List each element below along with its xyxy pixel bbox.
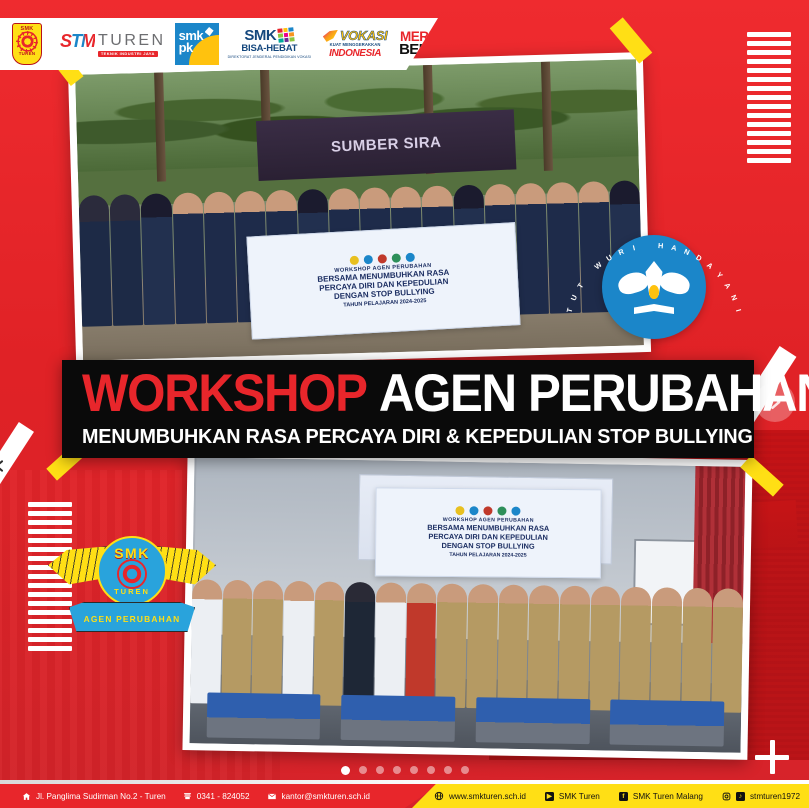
carousel-prev-button[interactable] bbox=[0, 452, 8, 480]
slide-title: WORKSHOP AGEN PERUBAHAN bbox=[82, 367, 688, 420]
badge-ribbon-text: AGEN PERUBAHAN bbox=[69, 602, 195, 632]
footer-contact-group: Jl. Panglima Sudirman No.2 - Turen 0341 … bbox=[0, 784, 440, 808]
badge-smk-text: SMK bbox=[114, 546, 150, 560]
tut-wuri-handayani-logo: TUT WURI HANDAYANI bbox=[602, 235, 706, 339]
carousel-next-button[interactable] bbox=[755, 382, 795, 422]
footer-facebook-text: SMK Turen Malang bbox=[633, 792, 703, 801]
ladder-stripes-top-right bbox=[747, 32, 791, 163]
gear-icon bbox=[119, 561, 145, 587]
belajar-text: BELAJAR bbox=[399, 43, 466, 58]
phone-icon bbox=[183, 792, 192, 801]
carousel-dots[interactable] bbox=[0, 766, 809, 775]
merdeka-belajar-logo: MERDEKA BELAJAR bbox=[399, 30, 466, 58]
footer-website[interactable]: www.smkturen.sch.id bbox=[434, 791, 526, 801]
chevron-right-icon bbox=[765, 392, 785, 412]
smkpk-line-2: pk bbox=[179, 42, 204, 54]
facebook-icon: f bbox=[619, 792, 628, 801]
smk-turen-crest-logo: SMK TUREN bbox=[12, 23, 42, 65]
swoosh-icon bbox=[323, 30, 338, 42]
carousel-dot[interactable] bbox=[341, 766, 350, 775]
turen-wordmark: TUREN bbox=[98, 33, 166, 49]
footer-phone: 0341 - 824052 bbox=[183, 792, 250, 801]
globe-icon bbox=[434, 791, 444, 801]
carousel-dot[interactable] bbox=[427, 766, 435, 774]
bisa-sub-text: DIREKTORAT JENDERAL PENDIDIKAN VOKASI bbox=[228, 56, 311, 60]
vokasi-indonesia-logo: VOKASI KUAT MENGGERAKKAN INDONESIA bbox=[320, 29, 390, 58]
slide-photo-top: SUMBER SIRA WORKSHOP AGEN PERUBAHA bbox=[68, 52, 651, 368]
footer-instagram-text: stmturen1972 bbox=[750, 792, 800, 801]
stm-turen-logo: STM TUREN TEKNIK INDUSTRI JAYA bbox=[60, 32, 166, 57]
smk-bisa-hebat-logo: SMK BISA-HEBAT DIREKTORAT JENDERAL PENDI… bbox=[228, 28, 311, 59]
carousel-dot[interactable] bbox=[410, 766, 418, 774]
footer-email-text: kantor@smkturen.sch.id bbox=[282, 792, 370, 801]
agen-perubahan-badge: SMK TUREN AGEN PERUBAHAN bbox=[48, 520, 216, 632]
banner-partner-logos bbox=[456, 506, 521, 516]
footer-phone-text: 0341 - 824052 bbox=[197, 792, 250, 801]
indonesia-text: INDONESIA bbox=[329, 49, 381, 59]
slide-title-banner: WORKSHOP AGEN PERUBAHAN MENUMBUHKAN RASA… bbox=[62, 360, 754, 458]
footer-email: kantor@smkturen.sch.id bbox=[267, 792, 370, 801]
slide-photo-bottom: WORKSHOP AGEN PERUBAHAN BERSAMA MENUMBUH… bbox=[182, 450, 752, 760]
footer-social-group: www.smkturen.sch.id ▶ SMK Turen f SMK Tu… bbox=[412, 784, 809, 808]
gear-icon bbox=[19, 33, 36, 50]
mail-icon bbox=[267, 792, 277, 801]
expand-plus-button[interactable] bbox=[753, 738, 791, 776]
vokasi-sub-text: KUAT MENGGERAKKAN bbox=[330, 43, 381, 47]
slide-subtitle: MENUMBUHKAN RASA PERCAYA DIRI & KEPEDULI… bbox=[82, 425, 711, 449]
header-logo-bar: SMK TUREN STM TUREN TEKNIK INDUSTRI JAYA… bbox=[0, 18, 438, 70]
bisa-hebat-text: BISA-HEBAT bbox=[241, 44, 297, 54]
home-icon bbox=[22, 792, 31, 801]
footer-website-text: www.smkturen.sch.id bbox=[449, 792, 526, 801]
footer-facebook[interactable]: f SMK Turen Malang bbox=[619, 792, 703, 801]
photo-top-workshop-banner: WORKSHOP AGEN PERUBAHAN BERSAMA MENUMBUH… bbox=[247, 222, 521, 339]
instagram-icon bbox=[722, 792, 731, 801]
footer-youtube-text: SMK Turen bbox=[559, 792, 600, 801]
footer-instagram-tiktok[interactable]: ♪ stmturen1972 bbox=[722, 792, 800, 801]
footer-youtube[interactable]: ▶ SMK Turen bbox=[545, 792, 600, 801]
footer-address: Jl. Panglima Sudirman No.2 - Turen bbox=[22, 792, 166, 801]
stm-tagline: TEKNIK INDUSTRI JAYA bbox=[98, 51, 158, 57]
youtube-icon: ▶ bbox=[545, 792, 554, 801]
slide-title-highlight: WORKSHOP bbox=[82, 364, 367, 423]
footer-address-text: Jl. Panglima Sudirman No.2 - Turen bbox=[36, 792, 166, 801]
chevron-left-icon bbox=[0, 455, 8, 477]
carousel-dot[interactable] bbox=[359, 766, 367, 774]
bisa-smk-text: SMK bbox=[244, 28, 276, 43]
photo-bottom-workshop-banner: WORKSHOP AGEN PERUBAHAN BERSAMA MENUMBUH… bbox=[375, 487, 602, 578]
carousel-dot[interactable] bbox=[393, 766, 401, 774]
badge-turen-text: TUREN bbox=[114, 588, 150, 596]
footer-bar: Jl. Panglima Sudirman No.2 - Turen 0341 … bbox=[0, 784, 809, 808]
banner-line-4: DENGAN STOP BULLYING bbox=[441, 541, 534, 551]
banner-line-5: TAHUN PELAJARAN 2024-2025 bbox=[449, 552, 526, 559]
tiktok-icon: ♪ bbox=[736, 792, 745, 801]
hero-carousel-slide: PENDIDIKAN TEK JL. PANGLIMA SUDIRMAN No.… bbox=[0, 0, 809, 808]
carousel-dot[interactable] bbox=[461, 766, 469, 774]
carousel-dot[interactable] bbox=[444, 766, 452, 774]
slide-title-rest: AGEN PERUBAHAN bbox=[379, 364, 809, 423]
kite-icon bbox=[205, 27, 214, 36]
carousel-dot[interactable] bbox=[376, 766, 384, 774]
smk-pk-logo: smk pk bbox=[175, 23, 219, 65]
stm-wordmark: STM bbox=[60, 32, 95, 50]
color-grid-icon bbox=[278, 28, 295, 44]
vokasi-text: VOKASI bbox=[340, 29, 387, 42]
